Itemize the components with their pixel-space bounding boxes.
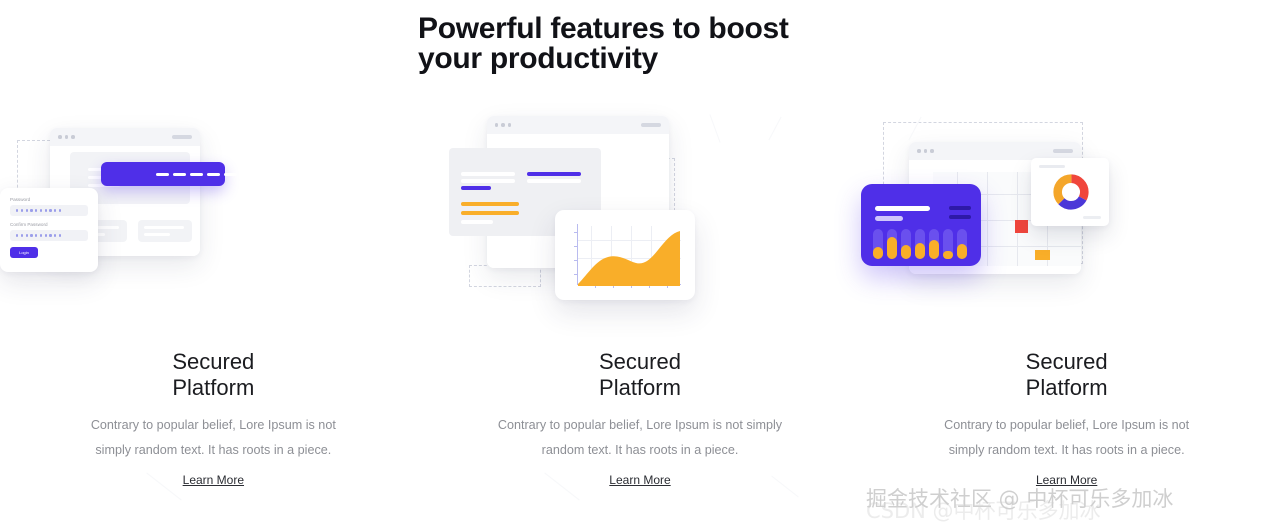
accent-line: [461, 202, 519, 206]
card-line: [875, 216, 903, 221]
dashboard-charts-illustration: [853, 110, 1280, 345]
accent-line: [461, 186, 491, 190]
bar-chart-series: [873, 229, 967, 259]
card-title: Secured Platform: [853, 349, 1280, 401]
features-section: Powerful features to boost your producti…: [0, 0, 1280, 529]
feature-cards-row: Password Confirm Password Login Secured …: [0, 110, 1280, 490]
learn-more-link[interactable]: Learn More: [0, 473, 427, 487]
bar-track: [887, 229, 897, 259]
bar-track: [901, 229, 911, 259]
window-pill-icon: [641, 123, 661, 127]
masked-password-dashes: [156, 173, 237, 176]
card-title-line-2: Platform: [0, 375, 427, 401]
window-pill-icon: [172, 135, 192, 139]
orange-marker: [1035, 250, 1050, 260]
password-field-highlight: [101, 162, 225, 186]
area-chart-series: [578, 230, 682, 286]
accent-line: [527, 172, 581, 176]
window-dots-icon: [917, 149, 934, 153]
card-line: [949, 206, 971, 210]
bar-chart-card: [861, 184, 981, 266]
content-line: [144, 226, 184, 229]
confirm-password-input[interactable]: [10, 230, 88, 241]
login-button[interactable]: Login: [10, 247, 38, 258]
feature-card-1: Password Confirm Password Login Secured …: [0, 110, 427, 490]
login-security-illustration: Password Confirm Password Login: [0, 110, 427, 345]
password-label: Password: [10, 197, 88, 202]
content-line: [461, 179, 515, 183]
card-title-line-1: Secured: [427, 349, 854, 375]
page-title-line-2: your productivity: [418, 44, 938, 74]
card-description: Contrary to popular belief, Lore Ipsum i…: [77, 413, 349, 463]
learn-more-link[interactable]: Learn More: [427, 473, 854, 487]
card-title-line-2: Platform: [853, 375, 1280, 401]
browser-title-bar: [487, 116, 669, 134]
card-description: Contrary to popular belief, Lore Ipsum i…: [931, 413, 1203, 463]
bar-track: [943, 229, 953, 259]
window-dots-icon: [495, 123, 512, 127]
bar-track: [915, 229, 925, 259]
window-dots-icon: [58, 135, 75, 139]
password-input[interactable]: [10, 205, 88, 216]
card-title-line-2: Platform: [427, 375, 854, 401]
analytics-area-chart-illustration: [427, 110, 854, 345]
donut-chart-card: [1031, 158, 1109, 226]
card-line: [875, 206, 930, 211]
accent-line: [461, 211, 519, 215]
confirm-password-label: Confirm Password: [10, 222, 88, 227]
content-line: [461, 172, 515, 176]
browser-title-bar: [50, 128, 200, 146]
content-line: [527, 179, 581, 183]
decorative-dashed-box: [469, 265, 541, 287]
card-description: Contrary to popular belief, Lore Ipsum i…: [484, 413, 796, 463]
content-block: [138, 220, 192, 242]
password-form-card: Password Confirm Password Login: [0, 188, 98, 272]
card-title-line-1: Secured: [853, 349, 1280, 375]
content-line: [144, 233, 170, 236]
card-title: Secured Platform: [427, 349, 854, 401]
bar-track: [957, 229, 967, 259]
content-line: [461, 220, 493, 224]
page-title: Powerful features to boost your producti…: [418, 14, 938, 74]
donut-chart: [1051, 172, 1091, 212]
bar-track: [873, 229, 883, 259]
page-title-line-1: Powerful features to boost: [418, 12, 789, 45]
watermark-primary: 掘金技术社区 @ 中杯可乐多加冰: [866, 483, 1173, 513]
card-line: [949, 215, 971, 219]
red-marker: [1015, 220, 1028, 233]
bar-track: [929, 229, 939, 259]
feature-card-3: Secured Platform Contrary to popular bel…: [853, 110, 1280, 490]
card-title-line-1: Secured: [0, 349, 427, 375]
window-pill-icon: [1053, 149, 1073, 153]
card-line: [1083, 216, 1101, 219]
area-chart-card: [555, 210, 695, 300]
feature-card-2: Secured Platform Contrary to popular bel…: [427, 110, 854, 490]
card-title: Secured Platform: [0, 349, 427, 401]
card-line: [1039, 165, 1065, 168]
